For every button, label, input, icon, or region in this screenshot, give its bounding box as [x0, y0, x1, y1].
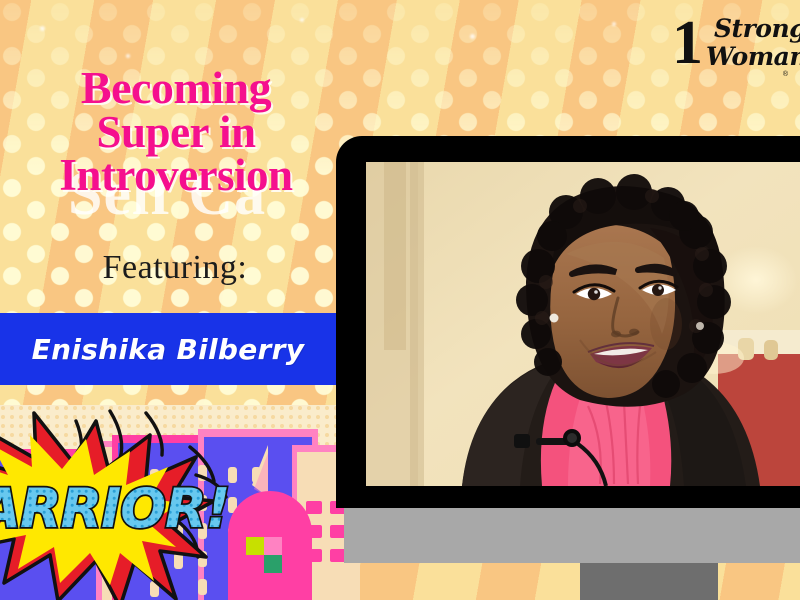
title-line-1: Becoming [0, 66, 352, 111]
monitor-frame [336, 136, 800, 508]
logo-word-strong: Strong [714, 14, 800, 43]
guest-name: Enishika Bilberry [32, 333, 305, 366]
laptop-base [344, 508, 800, 563]
featuring-label: Featuring: [0, 249, 350, 287]
laptop-foot [580, 563, 718, 600]
title-line-2: Super in [0, 111, 352, 155]
registered-trademark-icon: ® [783, 71, 788, 78]
sparkle-icon [300, 18, 304, 22]
thumbnail-canvas: Self Ca Becoming Super in Introversion F… [0, 0, 800, 600]
page-title: Becoming Super in Introversion [0, 66, 352, 198]
comic-svg: WARRIOR! [0, 405, 360, 600]
comic-illustration: WARRIOR! [0, 405, 360, 600]
logo-word-woman: Woman [706, 42, 800, 71]
logo-numeral: 1 [672, 16, 703, 72]
guest-name-banner: Enishika Bilberry [0, 313, 336, 385]
sparkle-icon [126, 54, 130, 58]
video-still [366, 162, 800, 486]
sparkle-icon [470, 34, 475, 39]
brand-logo: 1 Strong Woman ® [670, 8, 786, 82]
title-line-3: Introversion [0, 154, 352, 198]
video-screen[interactable] [366, 162, 800, 486]
sparkle-icon [612, 22, 616, 26]
sparkle-icon [40, 26, 45, 31]
warrior-burst-text: WARRIOR! [0, 477, 229, 540]
